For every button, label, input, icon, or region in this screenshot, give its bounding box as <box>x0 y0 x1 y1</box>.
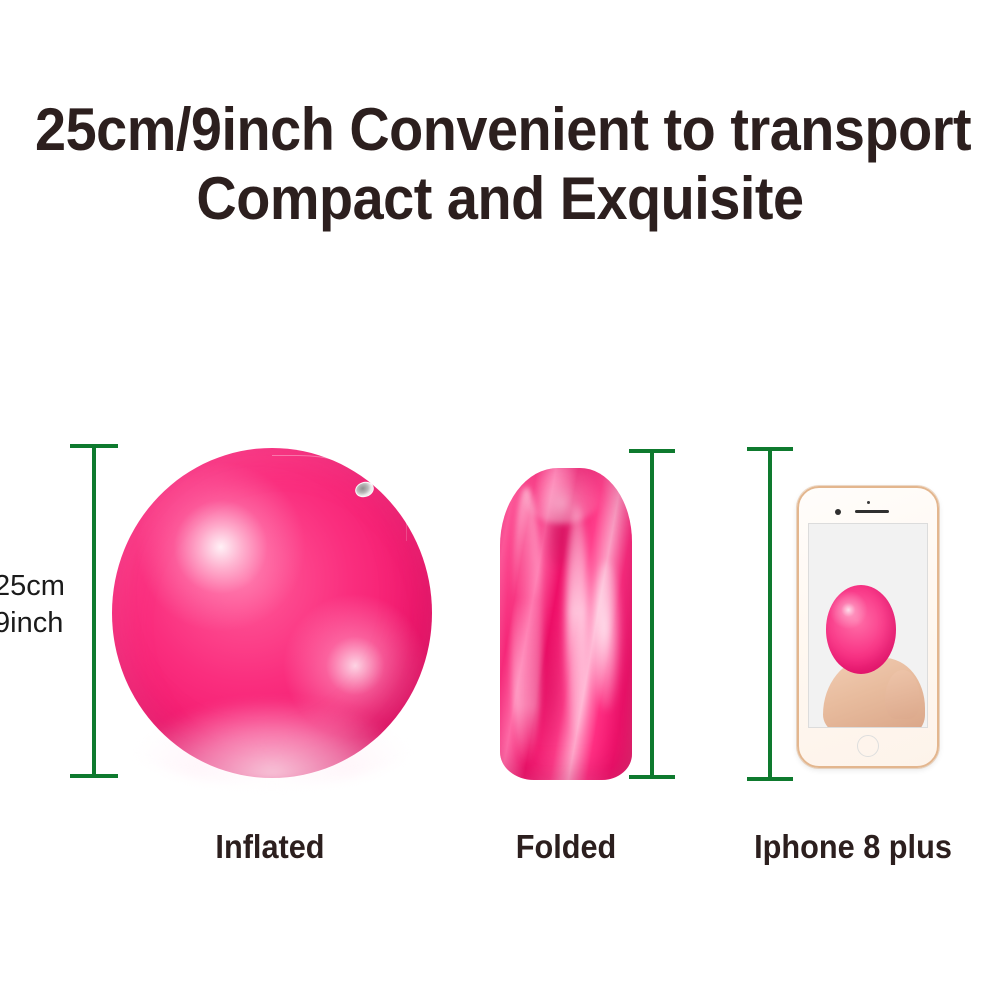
phone-home-button <box>857 735 879 757</box>
dimension-stem <box>92 444 96 778</box>
folded-ball-body <box>500 468 632 780</box>
caption-inflated: Inflated <box>121 828 419 866</box>
iphone-8-plus <box>797 486 939 768</box>
caption-folded: Folded <box>492 828 641 866</box>
headline-line-1: 25cm/9inch Convenient to transport <box>35 98 965 163</box>
fold-highlight-1 <box>511 487 543 768</box>
phone-body <box>797 486 939 768</box>
screen-ball <box>826 585 897 674</box>
fold-highlight-3 <box>592 562 621 712</box>
size-label-cm: 25cm <box>0 568 80 605</box>
page-title: 25cm/9inch Convenient to transport Compa… <box>0 98 1000 232</box>
dimension-cap-bottom <box>70 774 118 778</box>
phone-earpiece-icon <box>855 510 889 513</box>
dimension-stem <box>650 449 654 779</box>
headline-line-2: Compact and Exquisite <box>35 167 965 232</box>
dimension-line-folded <box>629 449 675 779</box>
dimension-cap-bottom <box>629 775 675 779</box>
fold-shadow-2 <box>534 612 568 774</box>
inflated-ball <box>112 448 432 778</box>
ball-sphere <box>112 448 432 778</box>
dimension-stem <box>768 447 772 781</box>
folded-ball <box>500 468 632 780</box>
dimension-cap-bottom <box>747 777 793 781</box>
size-label: 25cm 9inch <box>0 568 80 642</box>
fold-top-lip <box>521 468 603 524</box>
size-label-inch: 9inch <box>0 605 80 642</box>
phone-sensor-icon <box>867 501 870 504</box>
caption-phone: Iphone 8 plus <box>727 828 978 866</box>
dimension-line-phone <box>747 447 793 781</box>
ball-seam <box>272 455 407 542</box>
fold-shadow-1 <box>540 480 580 567</box>
fold-highlight-2 <box>566 505 588 736</box>
phone-screen <box>808 523 928 728</box>
screen-fingers <box>885 670 920 719</box>
product-infographic: 25cm/9inch Convenient to transport Compa… <box>0 0 1000 1000</box>
phone-camera-icon <box>835 509 841 515</box>
ball-bottom-highlight <box>131 699 413 785</box>
